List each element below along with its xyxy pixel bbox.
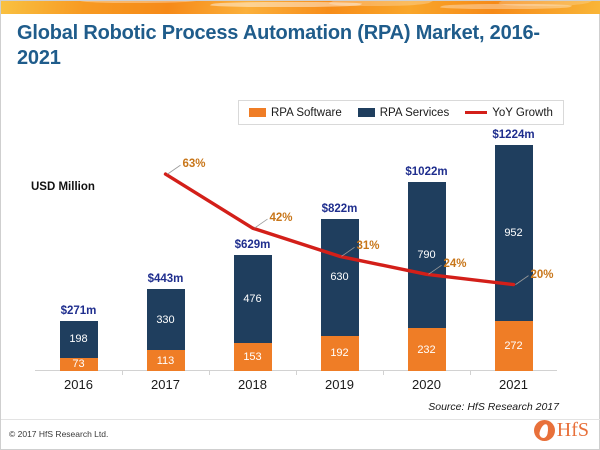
footer-divider [1,419,600,420]
chart-legend: RPA Software RPA Services YoY Growth [238,100,564,125]
page-title: Global Robotic Process Automation (RPA) … [17,21,577,71]
band-swoosh [323,1,438,6]
legend-label: RPA Software [271,107,342,119]
yoy-growth-line [35,131,557,371]
copyright-note: © 2017 HfS Research Ltd. [9,429,108,439]
x-axis-tick-mark [470,370,471,375]
x-axis-tick-mark [296,370,297,375]
band-swoosh [493,1,600,6]
x-axis-tick-2020: 2020 [384,377,470,392]
legend-item-rpa-software[interactable]: RPA Software [249,107,342,119]
hfs-logo: HfS [534,420,589,441]
legend-label: YoY Growth [492,107,553,119]
legend-label: RPA Services [380,107,449,119]
legend-line-icon [465,111,487,114]
hfs-logo-text: HfS [557,420,589,441]
header-accent-band [1,1,600,14]
x-axis-tick-2021: 2021 [471,377,557,392]
x-axis-tick-2016: 2016 [36,377,122,392]
source-note: Source: HfS Research 2017 [428,401,559,413]
chart-plot-area: 19873$271m330113$443m476153$629m630192$8… [35,131,557,371]
legend-item-rpa-services[interactable]: RPA Services [358,107,449,119]
x-axis-tick-2018: 2018 [210,377,296,392]
x-axis-tick-mark [122,370,123,375]
growth-label-2019: 31% [357,240,380,252]
x-axis-tick-mark [209,370,210,375]
legend-swatch-icon [249,108,266,117]
x-axis-tick-2019: 2019 [297,377,383,392]
band-swoosh [74,1,207,3]
growth-label-2018: 42% [270,212,293,224]
legend-swatch-icon [358,108,375,117]
x-axis-tick-mark [383,370,384,375]
legend-item-yoy-growth[interactable]: YoY Growth [465,107,553,119]
growth-label-2020: 24% [444,258,467,270]
growth-label-2021: 20% [531,269,554,281]
x-axis-tick-2017: 2017 [123,377,209,392]
hfs-bird-icon [534,420,555,441]
growth-label-2017: 63% [183,158,206,170]
